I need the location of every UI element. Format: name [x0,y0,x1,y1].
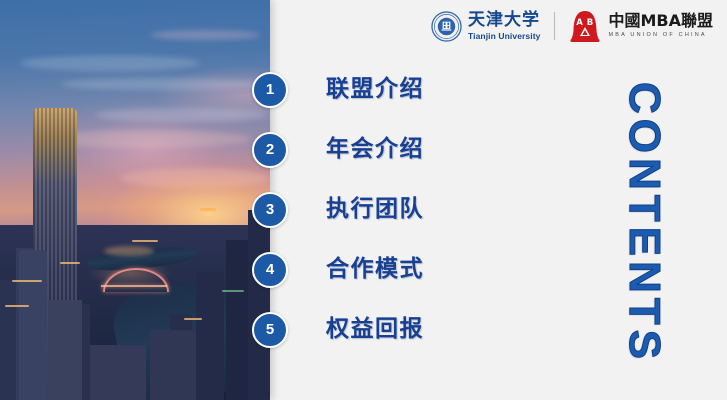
cloud-streak [60,78,260,90]
item-label: 联盟介绍 [326,69,424,103]
item-label: 合作模式 [326,249,424,283]
contents-heading: CONTENTS [614,118,674,328]
list-item[interactable]: 5 权益回报 [252,300,482,360]
list-item[interactable]: 1 联盟介绍 [252,60,482,120]
mba-union-logo: A B 中國MBA聯盟 MBA UNION OF CHINA [569,10,713,43]
item-number-badge: 2 [252,132,288,168]
photo-building [90,345,146,400]
photo-building [196,272,224,400]
cloud-streak [120,168,270,188]
list-item[interactable]: 3 执行团队 [252,180,482,240]
photo-light [222,290,244,292]
tianjin-university-logo: 1895 天津大学 Tianjin University [431,11,541,42]
contents-heading-text: CONTENTS [619,82,669,364]
list-item[interactable]: 2 年会介绍 [252,120,482,180]
mba-union-bell-icon: A B [569,10,601,43]
photo-building [48,300,82,400]
item-label: 年会介绍 [326,129,424,163]
photo-light [12,280,42,282]
item-number-badge: 1 [252,72,288,108]
item-number-badge: 3 [252,192,288,228]
cloud-streak [20,55,200,71]
photo-light [205,216,215,218]
presentation-slide: 1895 天津大学 Tianjin University A B 中國MBA聯盟… [0,0,727,400]
item-number-badge: 4 [252,252,288,288]
header-logos: 1895 天津大学 Tianjin University A B 中國MBA聯盟… [431,6,713,46]
photo-light [5,305,29,307]
item-label: 执行团队 [326,189,424,223]
photo-glow [104,246,154,256]
tianjin-skyline-photo [0,0,270,400]
photo-light [60,262,80,264]
photo-light [184,318,202,320]
item-number-badge: 5 [252,312,288,348]
mba-union-name-en: MBA UNION OF CHINA [608,33,713,39]
cloud-streak [95,108,265,122]
photo-arch-bridge [103,268,165,288]
photo-building [150,330,196,400]
svg-text:B: B [587,18,593,28]
svg-text:1895: 1895 [442,32,451,36]
svg-text:A: A [577,18,584,28]
photo-building [19,250,47,400]
mba-union-name-cn: 中國MBA聯盟 [608,13,713,29]
list-item[interactable]: 4 合作模式 [252,240,482,300]
university-name-en: Tianjin University [468,32,541,41]
item-label: 权益回报 [326,309,424,343]
photo-light [200,208,216,211]
cloud-streak [150,30,260,40]
contents-list: 1 联盟介绍 2 年会介绍 3 执行团队 4 合作模式 5 权益回报 [252,60,482,360]
logo-divider [554,12,555,40]
photo-light [132,240,158,242]
photo-building [226,240,248,400]
tianjin-university-seal-icon: 1895 [431,11,462,42]
university-name-cn: 天津大学 [468,12,541,29]
